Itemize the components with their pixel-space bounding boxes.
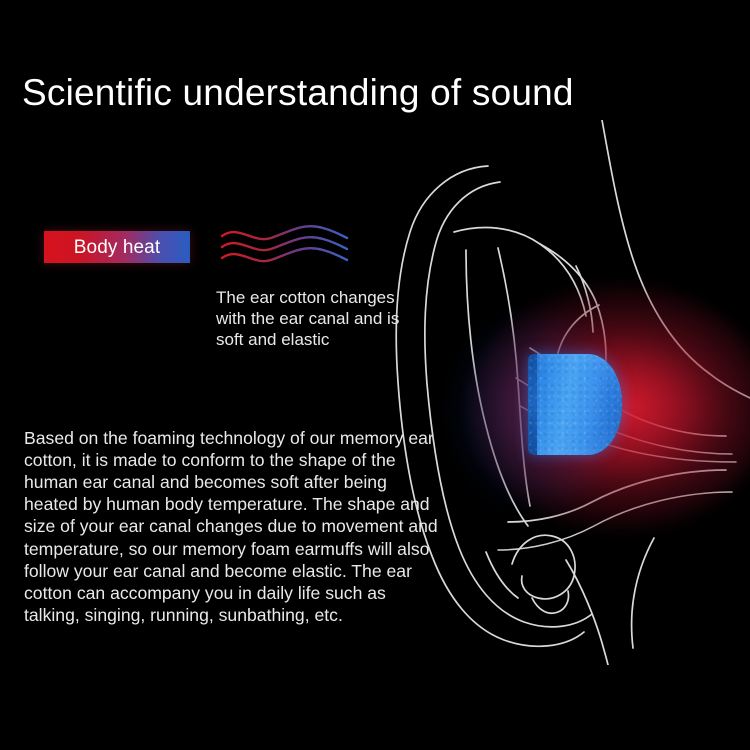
heat-wave-icon (219, 222, 351, 264)
antihelix-upper-line (454, 228, 586, 316)
jaw-contour-line (632, 538, 654, 648)
wave-caption-text: The ear cotton changes with the ear cana… (216, 287, 421, 350)
antitragus-line (532, 591, 569, 613)
body-heat-badge-label: Body heat (74, 238, 160, 257)
page-title: Scientific understanding of sound (22, 73, 574, 114)
earplug-foam-texture (528, 354, 622, 455)
foam-earplug (528, 354, 622, 455)
helix-crus-line (576, 266, 593, 332)
antihelix-fold-line (498, 248, 530, 506)
earlobe-outer-line (566, 560, 610, 665)
head-contour-line (602, 120, 750, 398)
body-heat-badge: Body heat (44, 231, 190, 263)
main-description-text: Based on the foaming technology of our m… (24, 427, 444, 627)
slide-canvas: Scientific understanding of sound Body h… (0, 0, 750, 750)
